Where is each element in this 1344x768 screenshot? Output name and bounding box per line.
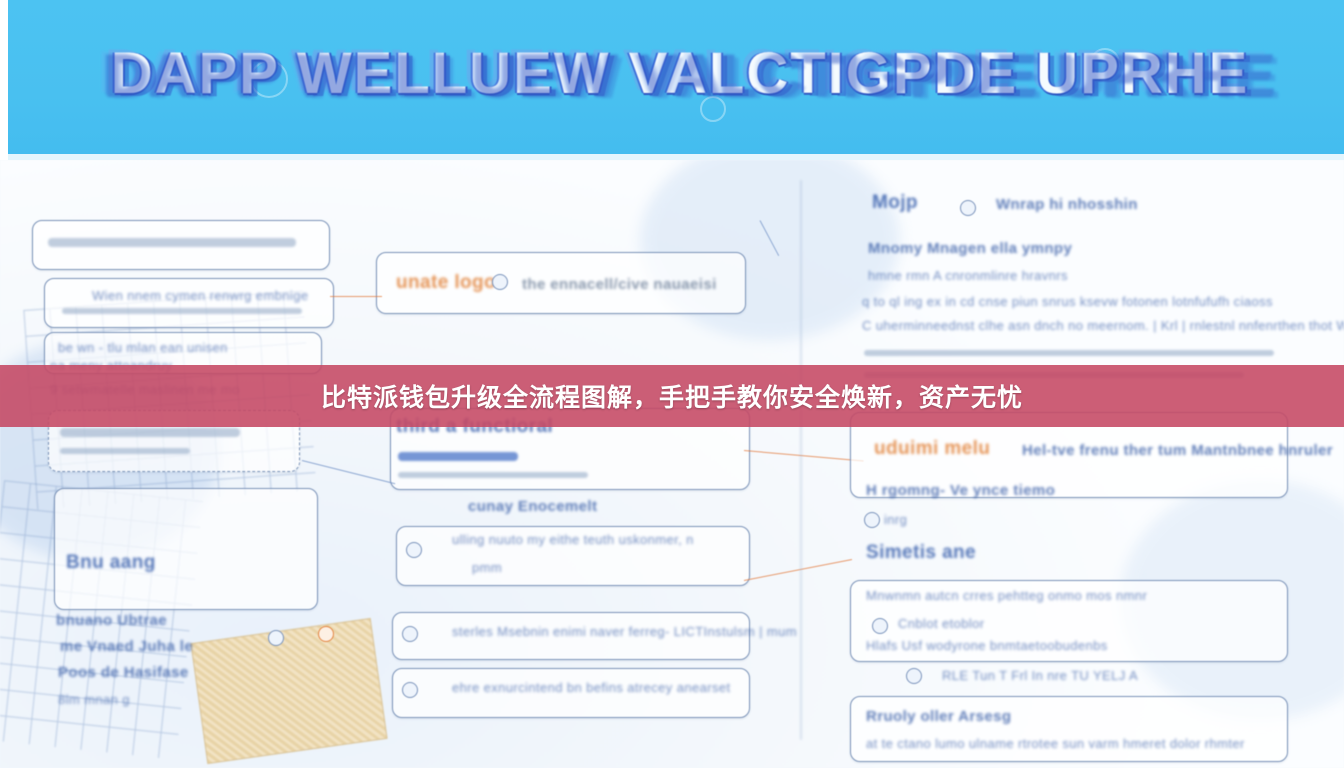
column-divider — [800, 180, 802, 740]
right-text-4-text: q to ql ing ex in cd cnse piun snrus kse… — [862, 294, 1273, 309]
placeholder-line — [48, 238, 296, 247]
texture-patch — [190, 618, 387, 764]
placeholder-line — [398, 472, 588, 478]
mid-text-3-text: ulling nuuto my eithe teuth uskonmer, n — [452, 532, 694, 547]
right-label-2-text: uduimi melu — [874, 438, 990, 460]
right-text-12-text: Hlafs Usf wodyrone bnmtaetoobudenbs — [866, 638, 1108, 653]
left-card-2 — [44, 278, 334, 328]
bullet-dot — [872, 618, 888, 634]
bullet-dot — [268, 630, 284, 646]
right-text-14-text: Rruoly oller Arsesg — [866, 708, 1011, 725]
bullet-dot — [492, 274, 508, 290]
mid-text-4-text: pmm — [472, 560, 502, 575]
left-card-5 — [54, 488, 318, 610]
placeholder-line — [864, 350, 1274, 356]
left-panel-top-text: Wien nnem cymen renwrg embnige — [92, 288, 308, 303]
mid-text-5-text: sterles Msebnin enimi naver ferreg- LICT… — [452, 624, 797, 639]
headline-text: 比特派钱包升级全流程图解，手把手教你安全焕新，资产无忧 — [321, 378, 1023, 414]
bullet-dot — [402, 626, 418, 642]
headline-bar: 比特派钱包升级全流程图解，手把手教你安全焕新，资产无忧 — [0, 365, 1344, 427]
right-text-11-text: Cnblot etoblor — [898, 616, 985, 631]
left-low-2-text: me Vnaed Juha le — [60, 638, 193, 655]
connector-line — [744, 559, 852, 581]
banner-edge — [0, 0, 8, 160]
right-text-10-text: Mnwnmn autcn crres pehtteg onmo mos nmnr — [866, 588, 1147, 603]
connector-line — [330, 296, 382, 297]
left-low-4-text: 8lm mnan g — [58, 692, 130, 707]
placeholder-line — [60, 448, 190, 454]
right-text-9-text: Simetis ane — [866, 542, 976, 564]
hero-banner: DAPP WELLUEW VALCTIGPDE UPRHE DAPP WELLU… — [0, 0, 1344, 160]
left-low-5-text: Bnu aang — [66, 552, 156, 574]
mid-label-1-text: unate logo — [396, 272, 496, 294]
placeholder-line — [60, 428, 240, 437]
right-text-3-text: hmne rmn A cnronmlinre hravnrs — [868, 268, 1068, 283]
placeholder-line — [398, 452, 518, 461]
bullet-dot — [960, 200, 976, 216]
right-text-8-text: inrg — [884, 512, 907, 527]
bullet-dot — [864, 512, 880, 528]
left-panel-row-text: be wn - tlu mlan ean unisen — [58, 340, 228, 355]
mid-text-2-text: cunay Enocemelt — [468, 498, 597, 515]
banner-title-ghost: DAPP WELLUEW VALCTIGPDE UPRHE — [51, 42, 1328, 109]
bullet-dot — [402, 682, 418, 698]
placeholder-line — [62, 308, 302, 314]
bullet-dot — [906, 668, 922, 684]
banner-title: DAPP WELLUEW VALCTIGPDE UPRHE DAPP WELLU… — [60, 40, 1300, 120]
mid-text-1-text: the ennacell/cive nauaeisi — [522, 276, 717, 293]
right-text-2-text: Mnomy Mnagen ella ymnpy — [868, 240, 1072, 257]
mid-text-6-text: ehre exnurcintend bn befins atrecey anea… — [452, 680, 731, 695]
right-text-7-text: H rgomng- Ve ynce tiemo — [866, 482, 1055, 499]
left-low-3-text: Poos de Hasifase — [58, 664, 189, 681]
right-title-1-text: Mojp — [872, 192, 918, 214]
left-low-1-text: bnuano Ubtrae — [56, 612, 167, 629]
screenshot-root: Wien nnem cymen renwrg embnige be wn - t… — [0, 0, 1344, 768]
right-text-13-text: RLE Tun T Frl In nre TU YELJ A — [942, 668, 1138, 683]
bullet-dot — [406, 542, 422, 558]
connector-line — [744, 450, 864, 461]
right-text-6-text: Hel-tve frenu ther tum Mantnbnee hnruler — [1022, 442, 1333, 459]
bullet-dot — [318, 626, 334, 642]
right-text-5-text: C uherminneednst clhe asn dnch no meerno… — [862, 318, 1344, 333]
right-text-1-text: Wnrap hi nhosshin — [996, 196, 1138, 213]
right-text-15-text: at te ctano lumo ulname rtrotee sun varm… — [866, 736, 1245, 751]
article-body: Wien nnem cymen renwrg embnige be wn - t… — [0, 160, 1344, 768]
right-card-3 — [850, 696, 1288, 762]
